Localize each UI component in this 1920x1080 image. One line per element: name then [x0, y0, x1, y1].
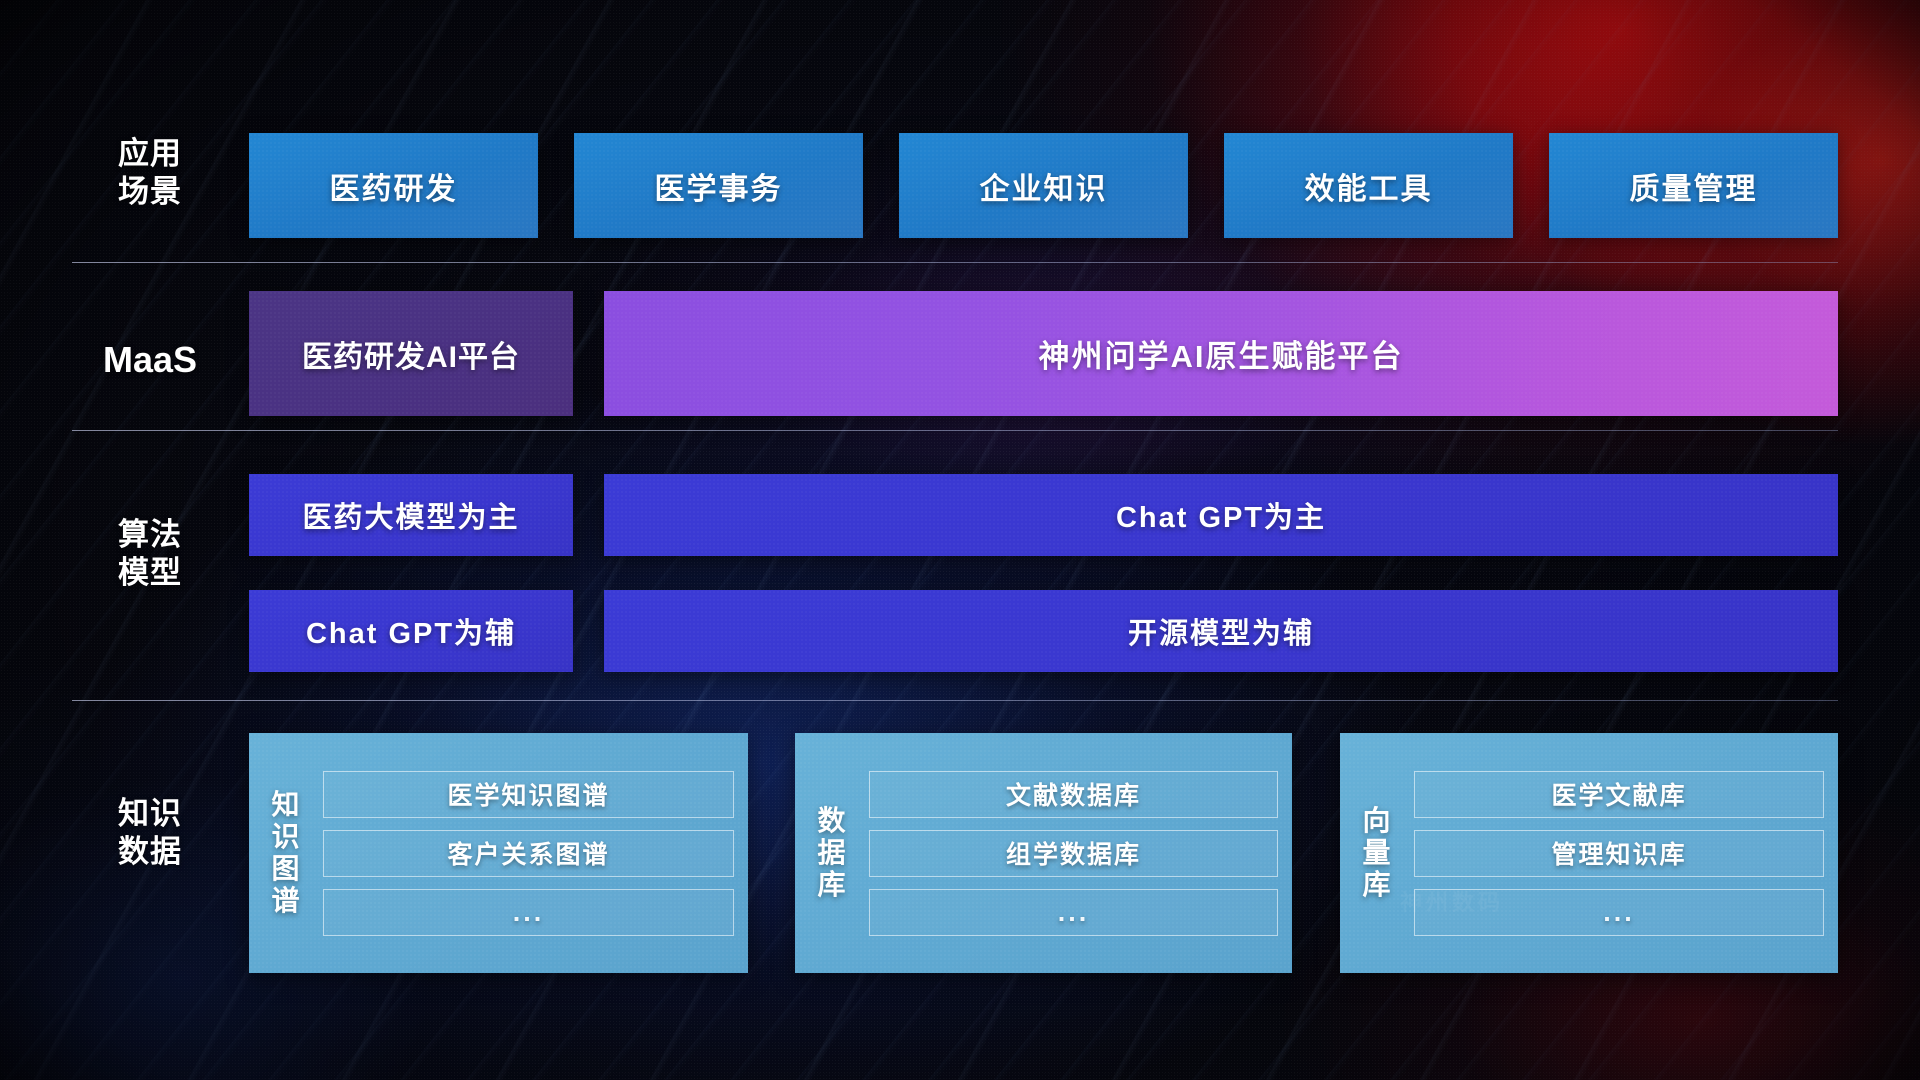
- app-box-enterprise-knowledge[interactable]: 企业知识: [899, 133, 1188, 238]
- row-label-application-line1: 应用: [75, 135, 225, 173]
- knowledge-item-management-knowledge[interactable]: 管理知识库: [1414, 830, 1824, 877]
- knowledge-item-management-knowledge-label: 管理知识库: [1551, 835, 1686, 871]
- algo-box-chatgpt-secondary[interactable]: Chat GPT为辅: [249, 590, 573, 672]
- knowledge-item-medical-kg-label: 医学知识图谱: [447, 776, 609, 812]
- knowledge-item-omics-db-label: 组学数据库: [1006, 835, 1141, 871]
- kg-label-char-1: 知: [271, 789, 300, 821]
- knowledge-item-kg-more[interactable]: ...: [323, 889, 734, 936]
- row-label-knowledge-line2: 数据: [75, 833, 225, 871]
- divider-maas-algorithm: [72, 430, 1838, 431]
- knowledge-item-vs-more-label: ...: [1603, 897, 1635, 928]
- vs-label-char-2: 量: [1362, 837, 1391, 869]
- divider-application-maas: [72, 262, 1838, 263]
- knowledge-item-db-more[interactable]: ...: [869, 889, 1278, 936]
- knowledge-item-medical-literature[interactable]: 医学文献库: [1414, 771, 1824, 818]
- app-box-enterprise-knowledge-label: 企业知识: [980, 164, 1108, 208]
- knowledge-panel-database-label: 数 据 库: [795, 746, 869, 960]
- maas-box-shenzhou-platform-label: 神州问学AI原生赋能平台: [1039, 331, 1404, 376]
- row-label-application: 应用 场景: [75, 135, 225, 211]
- knowledge-item-vs-more[interactable]: ...: [1414, 889, 1824, 936]
- knowledge-item-medical-kg[interactable]: 医学知识图谱: [323, 771, 734, 818]
- knowledge-item-literature-db[interactable]: 文献数据库: [869, 771, 1278, 818]
- knowledge-panel-vector-store[interactable]: 向 量 库 医学文献库 管理知识库 ...: [1340, 733, 1838, 973]
- knowledge-item-kg-more-label: ...: [513, 897, 545, 928]
- knowledge-panel-knowledge-graph-label: 知 识 图 谱: [249, 746, 323, 960]
- algo-box-opensource-secondary[interactable]: 开源模型为辅: [604, 590, 1838, 672]
- kg-label-char-3: 图: [271, 853, 300, 885]
- algo-box-chatgpt-primary[interactable]: Chat GPT为主: [604, 474, 1838, 556]
- knowledge-item-literature-db-label: 文献数据库: [1006, 776, 1141, 812]
- app-box-efficiency-tools-label: 效能工具: [1305, 164, 1433, 208]
- knowledge-panel-vector-store-label: 向 量 库: [1340, 746, 1414, 960]
- knowledge-item-db-more-label: ...: [1058, 897, 1090, 928]
- maas-box-shenzhou-platform[interactable]: 神州问学AI原生赋能平台: [604, 291, 1838, 416]
- algo-box-pharma-llm-primary-label: 医药大模型为主: [302, 494, 519, 536]
- algo-box-pharma-llm-primary[interactable]: 医药大模型为主: [249, 474, 573, 556]
- maas-box-drug-rd-ai-platform[interactable]: 医药研发AI平台: [249, 291, 573, 416]
- db-label-char-1: 数: [817, 805, 846, 837]
- app-box-medical-affairs-label: 医学事务: [655, 164, 783, 208]
- knowledge-panel-knowledge-graph-items: 医学知识图谱 客户关系图谱 ...: [323, 746, 734, 960]
- vs-label-char-1: 向: [1362, 805, 1391, 837]
- algo-box-chatgpt-secondary-label: Chat GPT为辅: [306, 610, 516, 652]
- knowledge-panel-knowledge-graph[interactable]: 知 识 图 谱 医学知识图谱 客户关系图谱 ...: [249, 733, 748, 973]
- knowledge-panel-database[interactable]: 数 据 库 文献数据库 组学数据库 ...: [795, 733, 1292, 973]
- knowledge-item-omics-db[interactable]: 组学数据库: [869, 830, 1278, 877]
- row-label-algorithm: 算法 模型: [75, 516, 225, 592]
- knowledge-item-customer-kg-label: 客户关系图谱: [447, 835, 609, 871]
- vs-label-char-3: 库: [1362, 869, 1391, 901]
- knowledge-panel-vector-store-items: 医学文献库 管理知识库 ...: [1414, 746, 1824, 960]
- app-box-efficiency-tools[interactable]: 效能工具: [1224, 133, 1513, 238]
- kg-label-char-4: 谱: [271, 885, 300, 917]
- row-label-application-line2: 场景: [75, 173, 225, 211]
- row-label-knowledge: 知识 数据: [75, 795, 225, 871]
- maas-box-drug-rd-ai-platform-label: 医药研发AI平台: [302, 332, 520, 376]
- algo-box-opensource-secondary-label: 开源模型为辅: [1128, 610, 1314, 652]
- row-label-knowledge-line1: 知识: [75, 795, 225, 833]
- knowledge-item-medical-literature-label: 医学文献库: [1551, 776, 1686, 812]
- algo-box-chatgpt-primary-label: Chat GPT为主: [1116, 494, 1326, 536]
- app-box-medical-affairs[interactable]: 医学事务: [574, 133, 863, 238]
- diagram-canvas: 应用 场景 医药研发 医学事务 企业知识 效能工具 质量管理 MaaS 医药研发…: [0, 0, 1920, 1080]
- app-box-quality-management-label: 质量管理: [1630, 164, 1758, 208]
- row-label-maas: MaaS: [75, 338, 225, 382]
- app-box-drug-rd-label: 医药研发: [330, 164, 458, 208]
- knowledge-item-customer-kg[interactable]: 客户关系图谱: [323, 830, 734, 877]
- app-box-drug-rd[interactable]: 医药研发: [249, 133, 538, 238]
- kg-label-char-2: 识: [271, 821, 300, 853]
- divider-algorithm-knowledge: [72, 700, 1838, 701]
- db-label-char-3: 库: [817, 869, 846, 901]
- app-box-quality-management[interactable]: 质量管理: [1549, 133, 1838, 238]
- knowledge-panel-database-items: 文献数据库 组学数据库 ...: [869, 746, 1278, 960]
- row-label-algorithm-line2: 模型: [75, 554, 225, 592]
- row-label-algorithm-line1: 算法: [75, 516, 225, 554]
- row-label-maas-text: MaaS: [75, 338, 225, 382]
- db-label-char-2: 据: [817, 837, 846, 869]
